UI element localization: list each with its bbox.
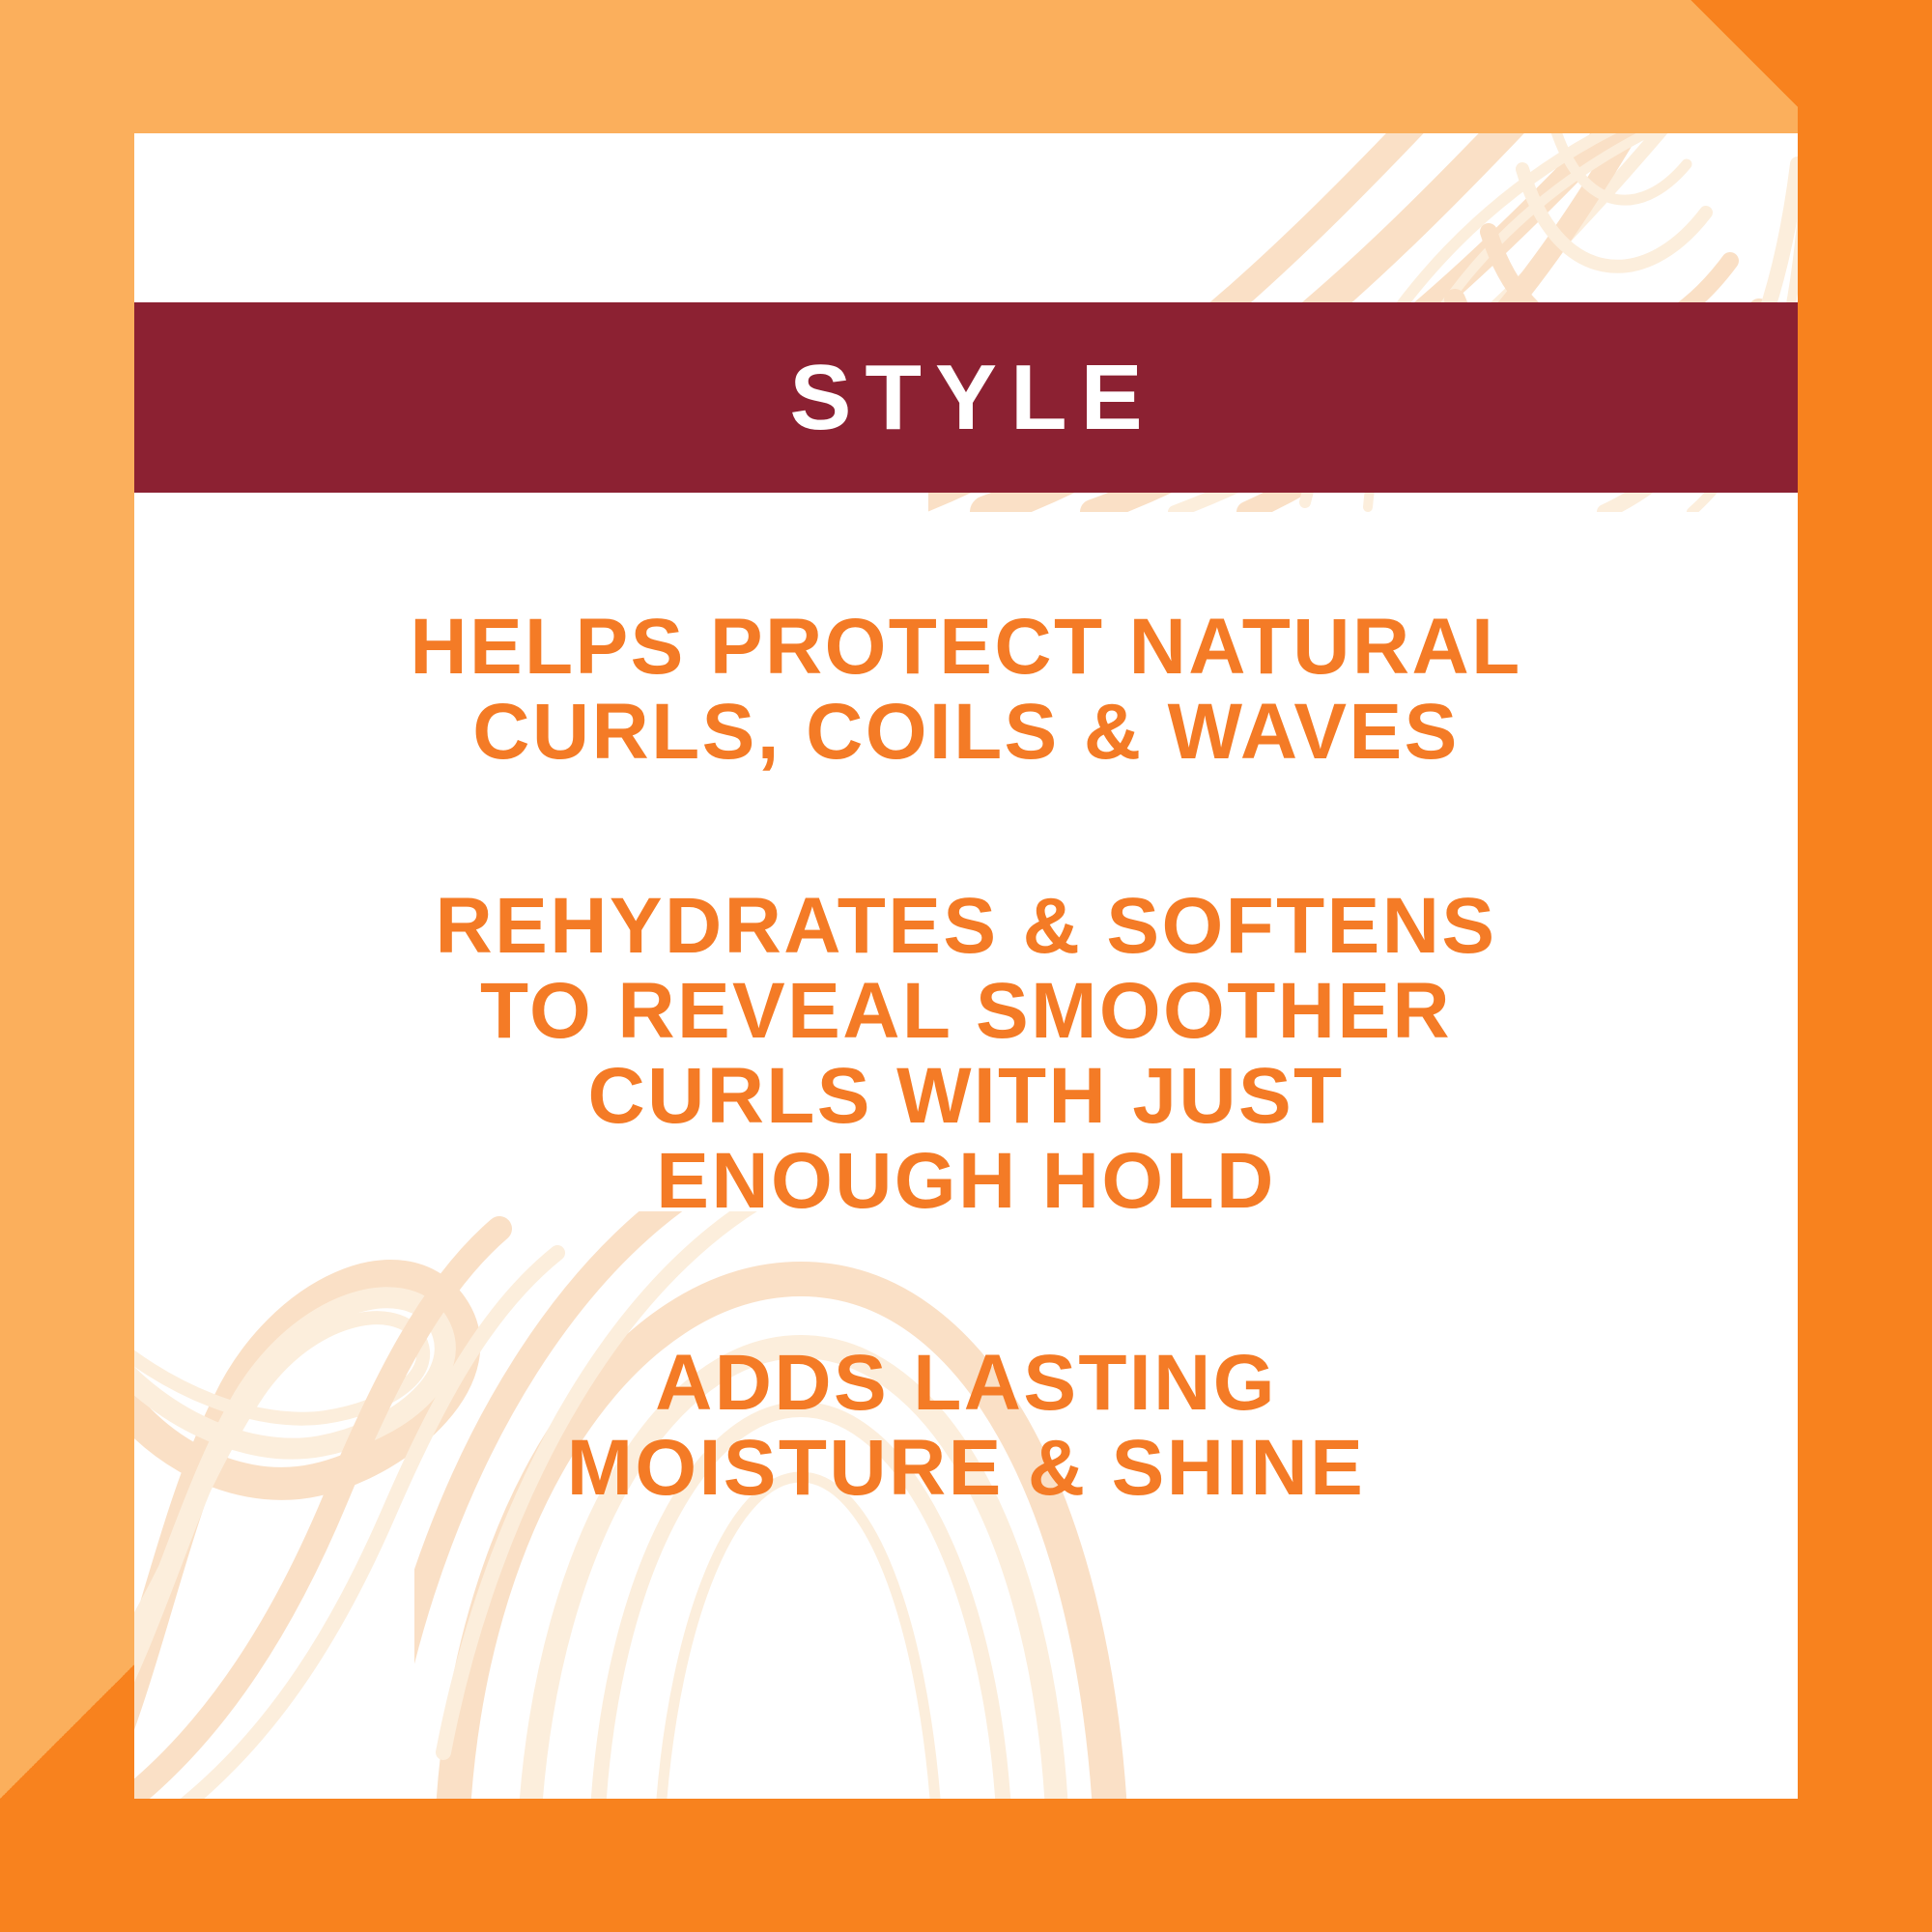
content-panel: STYLE HELPS PROTECT NATURAL CURLS, COILS…	[134, 133, 1798, 1799]
folded-corner-bottom-left-icon	[0, 1664, 134, 1799]
frame-right-band	[1798, 0, 1932, 1932]
folded-corner-top-right-icon	[1690, 0, 1798, 107]
benefit-item: HELPS PROTECT NATURAL CURLS, COILS & WAV…	[134, 605, 1798, 774]
frame-bottom-band	[0, 1799, 1932, 1932]
style-benefits-card: STYLE HELPS PROTECT NATURAL CURLS, COILS…	[0, 0, 1932, 1932]
page-title: STYLE	[776, 352, 1155, 444]
style-banner: STYLE	[134, 302, 1798, 493]
benefit-item: REHYDRATES & SOFTENS TO REVEAL SMOOTHER …	[134, 884, 1798, 1223]
benefits-list: HELPS PROTECT NATURAL CURLS, COILS & WAV…	[134, 493, 1798, 1799]
benefit-item: ADDS LASTING MOISTURE & SHINE	[134, 1341, 1798, 1510]
